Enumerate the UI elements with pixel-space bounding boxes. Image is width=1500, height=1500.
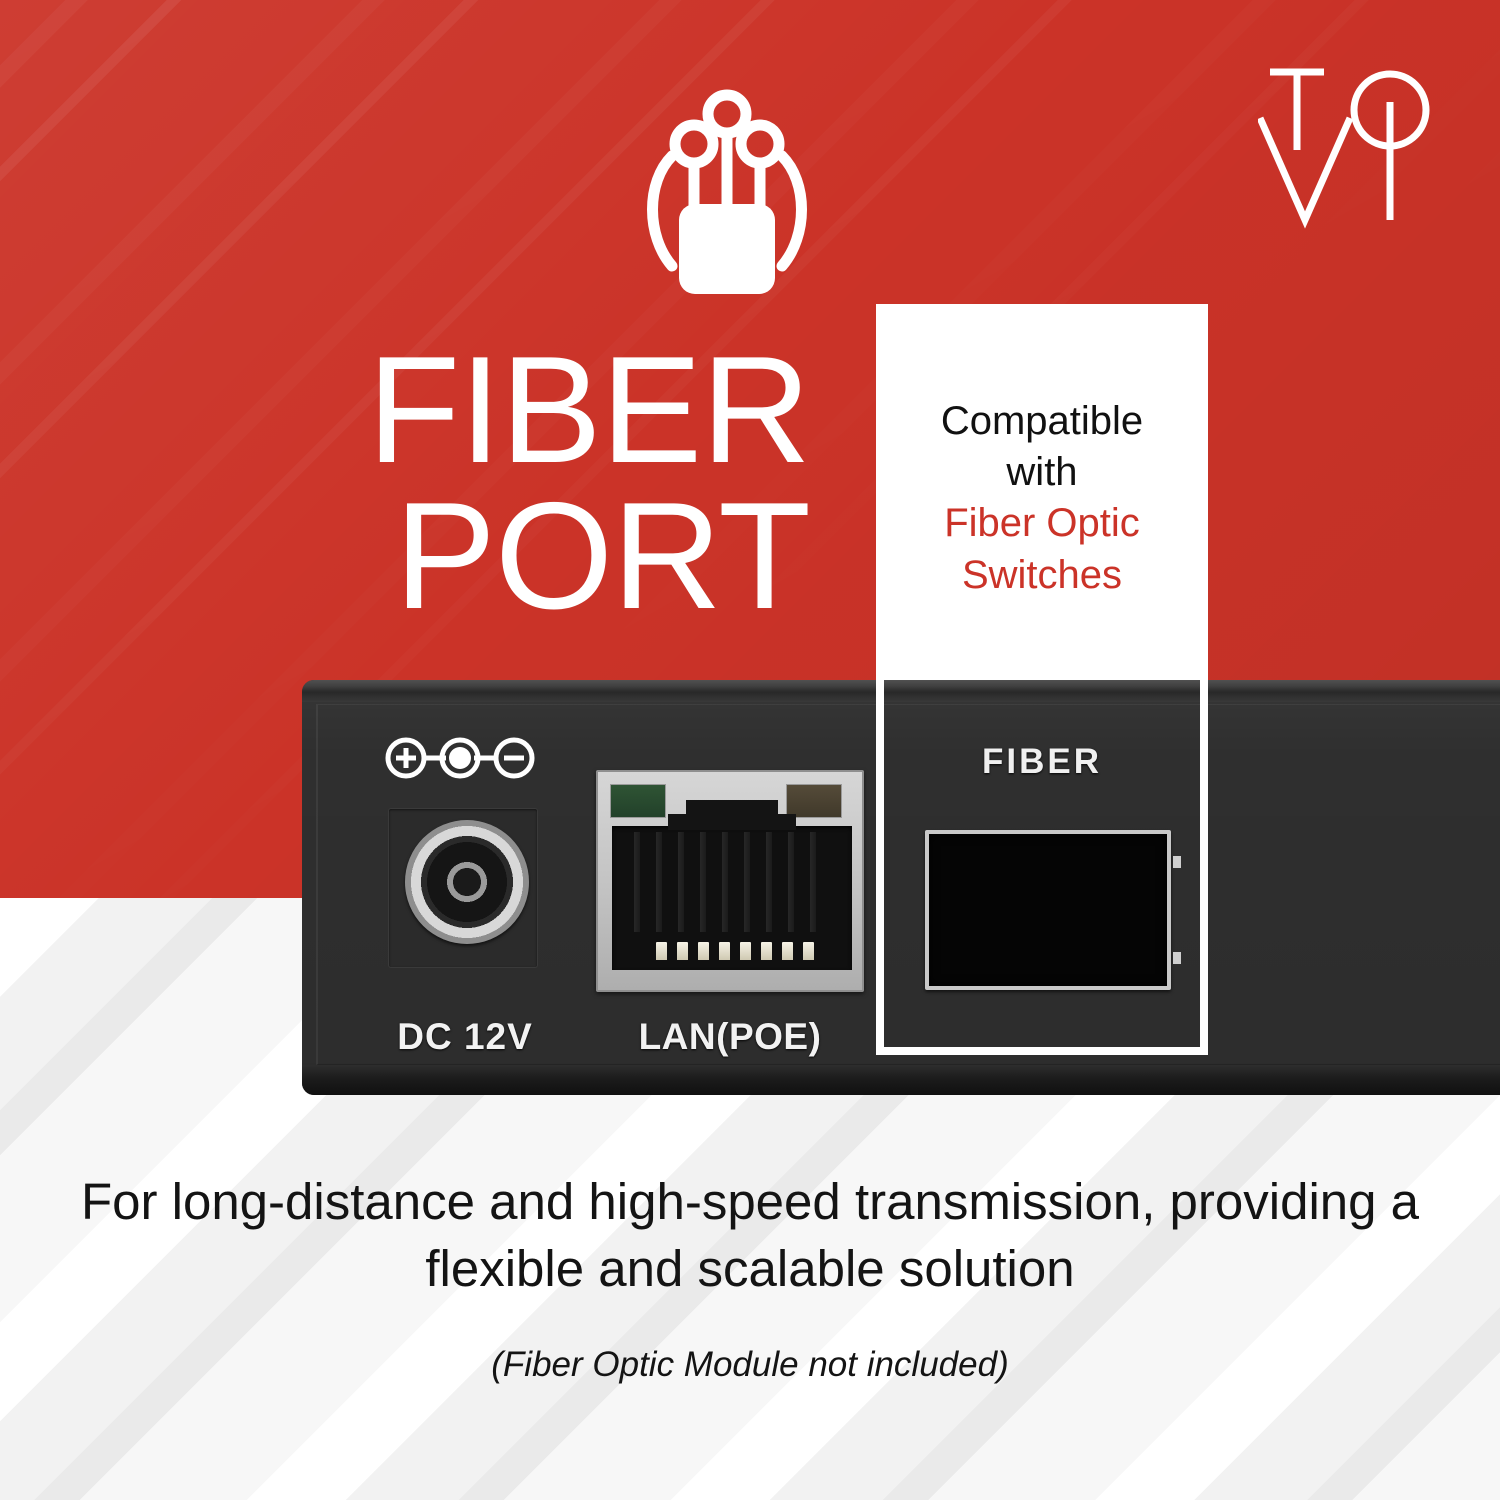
fiber-highlight-frame-right — [1200, 680, 1208, 1055]
fiber-optic-icon — [632, 86, 822, 301]
dc-polarity-icon — [384, 734, 536, 782]
lan-port-label: LAN(POE) — [590, 1016, 870, 1058]
rj45-pin — [761, 942, 772, 960]
compatibility-callout-text: Compatible with Fiber Optic Switches — [876, 396, 1208, 601]
page-title: FIBER PORT — [150, 338, 810, 630]
lan-rj45-port[interactable] — [596, 770, 864, 992]
rj45-pin — [803, 942, 814, 960]
callout-line-2: with — [876, 447, 1208, 498]
headline-line-1: FIBER — [150, 338, 810, 484]
rj45-rib — [634, 832, 640, 932]
tovi-logo — [1258, 62, 1454, 230]
fiber-highlight-frame-left — [876, 680, 884, 1055]
rj45-contact-pins — [656, 942, 816, 960]
disclaimer-text: (Fiber Optic Module not included) — [60, 1345, 1440, 1385]
rj45-rib — [700, 832, 706, 932]
fiber-port-label: FIBER — [896, 742, 1188, 782]
rj45-pin — [698, 942, 709, 960]
rj45-ribs — [634, 832, 830, 932]
rj45-rib — [788, 832, 794, 932]
lan-led-amber — [786, 784, 842, 818]
rj45-rib — [678, 832, 684, 932]
rj45-pin — [719, 942, 730, 960]
rj45-rib — [656, 832, 662, 932]
callout-line-4: Switches — [876, 550, 1208, 601]
sfp-latch-tab-bottom — [1173, 952, 1181, 964]
headline-line-2: PORT — [150, 484, 810, 630]
device-bottom-bevel — [302, 1065, 1500, 1095]
rj45-clip-slot-lower — [668, 814, 796, 830]
callout-line-3: Fiber Optic — [876, 498, 1208, 549]
rj45-pin — [782, 942, 793, 960]
feature-description: For long-distance and high-speed transmi… — [60, 1168, 1440, 1303]
device-top-bevel — [302, 680, 1500, 702]
fiber-highlight-frame-bottom — [876, 1047, 1208, 1055]
rj45-rib — [766, 832, 772, 932]
fiber-sfp-slot[interactable] — [925, 830, 1171, 990]
rj45-pin — [656, 942, 667, 960]
product-feature-poster: FIBER PORT Compatible with Fiber Optic S… — [0, 0, 1500, 1500]
sfp-latch-tab-top — [1173, 856, 1181, 868]
compatibility-callout: Compatible with Fiber Optic Switches — [876, 304, 1208, 680]
dc-power-jack[interactable] — [405, 820, 529, 944]
rj45-pin — [740, 942, 751, 960]
rj45-cavity — [612, 826, 852, 970]
rj45-rib — [722, 832, 728, 932]
rj45-rib — [810, 832, 816, 932]
dc-port-label: DC 12V — [360, 1016, 570, 1058]
callout-line-1: Compatible — [876, 396, 1208, 447]
rj45-pin — [677, 942, 688, 960]
rj45-rib — [744, 832, 750, 932]
lan-led-green — [610, 784, 666, 818]
